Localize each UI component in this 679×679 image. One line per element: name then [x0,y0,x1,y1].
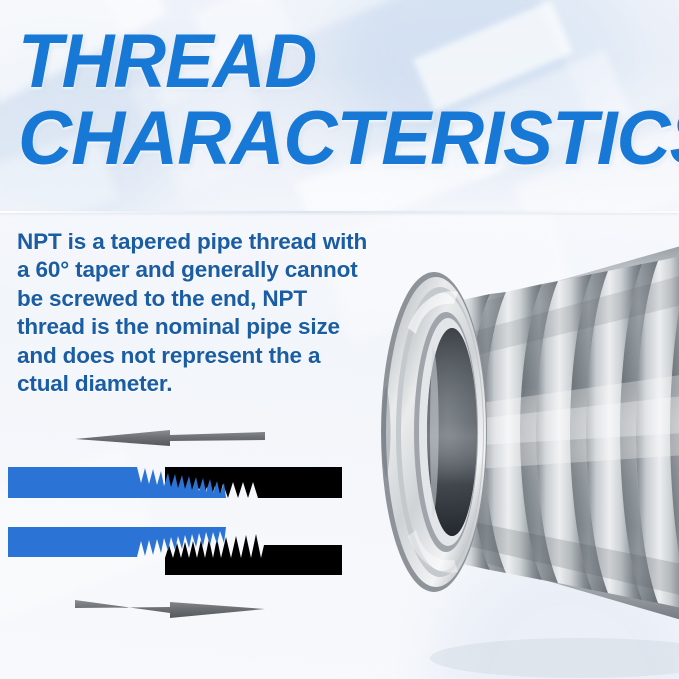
infographic-poster: THREAD CHARACTERISTICS NPT is a tapered … [0,0,679,679]
arrow-left-icon [75,430,265,446]
thread-pair-bottom [8,527,342,575]
poster-title: THREAD CHARACTERISTICS [18,26,678,176]
threaded-pipe-photo [330,196,679,679]
title-line-2: CHARACTERISTICS [18,103,668,176]
title-line-1: THREAD [18,26,652,99]
thread-pair-top [8,467,342,498]
arrow-right-icon [75,600,265,618]
thread-engagement-diagram [0,410,360,640]
description-paragraph: NPT is a tapered pipe thread with a 60° … [17,228,369,398]
